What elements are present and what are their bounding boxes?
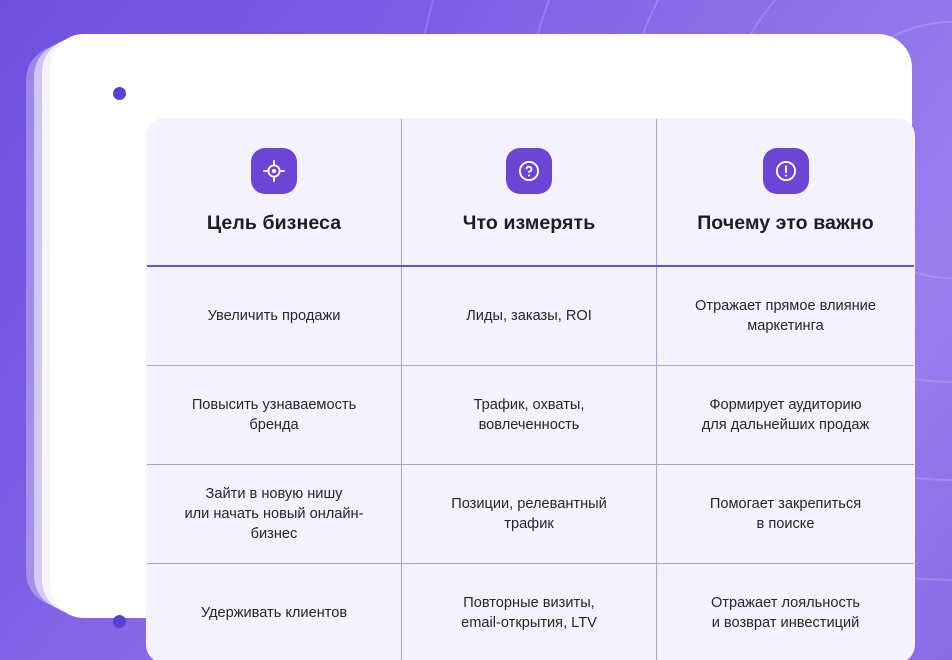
- cell-text-metric: Лиды, заказы, ROI: [416, 306, 642, 326]
- table-body: Увеличить продажи Лиды, заказы, ROI Отра…: [147, 266, 915, 660]
- cell-text-why: Отражает прямое влияниемаркетинга: [671, 296, 900, 336]
- table-cell-why: Отражает прямое влияниемаркетинга: [657, 266, 915, 366]
- table-header-cell-goal: Цель бизнеса: [147, 119, 402, 267]
- cell-text-why: Помогает закрепитьсяв поиске: [671, 494, 900, 534]
- table-cell-metric: Повторные визиты,email-открытия, LTV: [402, 564, 657, 660]
- table-row: Удерживать клиентов Повторные визиты,ema…: [147, 564, 915, 660]
- table-cell-why: Помогает закрепитьсяв поиске: [657, 465, 915, 564]
- cell-text-why: Формирует аудиториюдля дальнейших продаж: [671, 395, 900, 435]
- table-header-label-why: Почему это важно: [697, 212, 874, 235]
- cell-text-metric: Трафик, охваты,вовлеченность: [416, 395, 642, 435]
- cell-text-metric: Повторные визиты,email-открытия, LTV: [416, 593, 642, 633]
- cell-text-goal: Повысить узнаваемостьбренда: [161, 395, 387, 435]
- target-icon: [251, 148, 297, 194]
- table-header-cell-metric: Что измерять: [402, 119, 657, 267]
- table-row: Увеличить продажи Лиды, заказы, ROI Отра…: [147, 266, 915, 366]
- table-cell-goal: Увеличить продажи: [147, 266, 402, 366]
- cell-text-why: Отражает лояльностьи возврат инвестиций: [671, 593, 900, 633]
- comparison-table: Цель бизнеса: [146, 118, 915, 660]
- slide-canvas: Цель бизнеса: [0, 0, 952, 660]
- table-row: Зайти в новую нишуили начать новый онлай…: [147, 465, 915, 564]
- cell-text-metric: Позиции, релевантныйтрафик: [416, 494, 642, 534]
- table-header-label-metric: Что измерять: [463, 212, 596, 235]
- question-circle-icon: [506, 148, 552, 194]
- table-row: Повысить узнаваемостьбренда Трафик, охва…: [147, 366, 915, 465]
- table-cell-metric: Трафик, охваты,вовлеченность: [402, 366, 657, 465]
- table-cell-goal: Удерживать клиентов: [147, 564, 402, 660]
- cell-text-goal: Зайти в новую нишуили начать новый онлай…: [161, 484, 387, 544]
- cell-text-goal: Удерживать клиентов: [161, 603, 387, 623]
- table-cell-goal: Зайти в новую нишуили начать новый онлай…: [147, 465, 402, 564]
- decorative-dot-top: [113, 87, 126, 100]
- table-cell-why: Формирует аудиториюдля дальнейших продаж: [657, 366, 915, 465]
- exclamation-circle-icon: [763, 148, 809, 194]
- content-card: Цель бизнеса: [50, 34, 912, 618]
- table-cell-why: Отражает лояльностьи возврат инвестиций: [657, 564, 915, 660]
- table-header-cell-why: Почему это важно: [657, 119, 915, 267]
- decorative-dot-bottom: [113, 615, 126, 628]
- table-header-row: Цель бизнеса: [147, 119, 915, 267]
- comparison-table-wrapper: Цель бизнеса: [146, 118, 914, 602]
- table-header-label-goal: Цель бизнеса: [207, 212, 341, 235]
- table-cell-metric: Лиды, заказы, ROI: [402, 266, 657, 366]
- cell-text-goal: Увеличить продажи: [161, 306, 387, 326]
- table-cell-metric: Позиции, релевантныйтрафик: [402, 465, 657, 564]
- table-cell-goal: Повысить узнаваемостьбренда: [147, 366, 402, 465]
